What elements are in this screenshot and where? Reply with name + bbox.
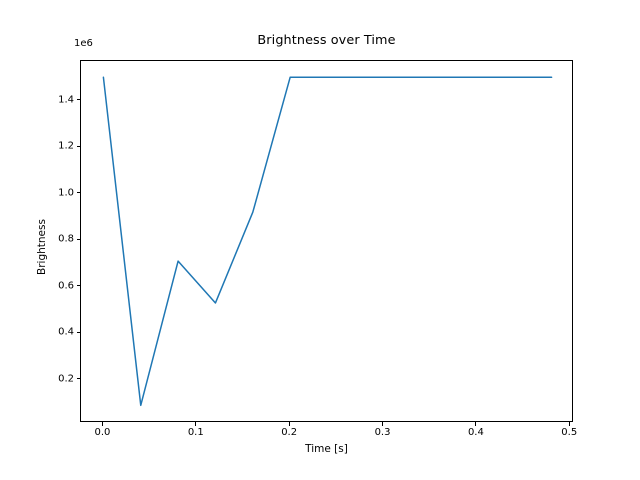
x-tick-mark [569,422,570,426]
y-tick-mark [77,285,81,286]
y-tick-label: 0.8 [58,234,74,245]
x-tick-mark [102,422,103,426]
x-tick-mark [289,422,290,426]
y-tick-label: 0.4 [58,327,74,338]
x-tick-mark [475,422,476,426]
plot-area [80,60,573,422]
y-tick-mark [77,192,81,193]
y-tick-mark [77,146,81,147]
y-axis-label: Brightness [36,187,48,307]
x-tick-mark [195,422,196,426]
data-line-series [81,61,573,422]
y-tick-mark [77,378,81,379]
series-line-brightness [103,77,551,405]
y-tick-mark [77,332,81,333]
x-tick-label: 0.0 [94,427,110,438]
x-tick-label: 0.3 [375,427,391,438]
x-tick-label: 0.1 [188,427,204,438]
y-tick-label: 0.2 [58,373,74,384]
y-tick-label: 1.0 [58,187,74,198]
matplotlib-figure: 1e6 Brightness over Time Time [s] Bright… [0,0,640,480]
y-tick-mark [77,99,81,100]
chart-title: Brightness over Time [80,33,573,48]
y-tick-label: 0.6 [58,280,74,291]
x-tick-label: 0.5 [561,427,577,438]
x-tick-label: 0.4 [468,427,484,438]
y-tick-label: 1.4 [58,94,74,105]
x-axis-label: Time [s] [80,443,573,455]
y-tick-mark [77,239,81,240]
x-tick-label: 0.2 [281,427,297,438]
y-tick-label: 1.2 [58,141,74,152]
x-tick-mark [382,422,383,426]
